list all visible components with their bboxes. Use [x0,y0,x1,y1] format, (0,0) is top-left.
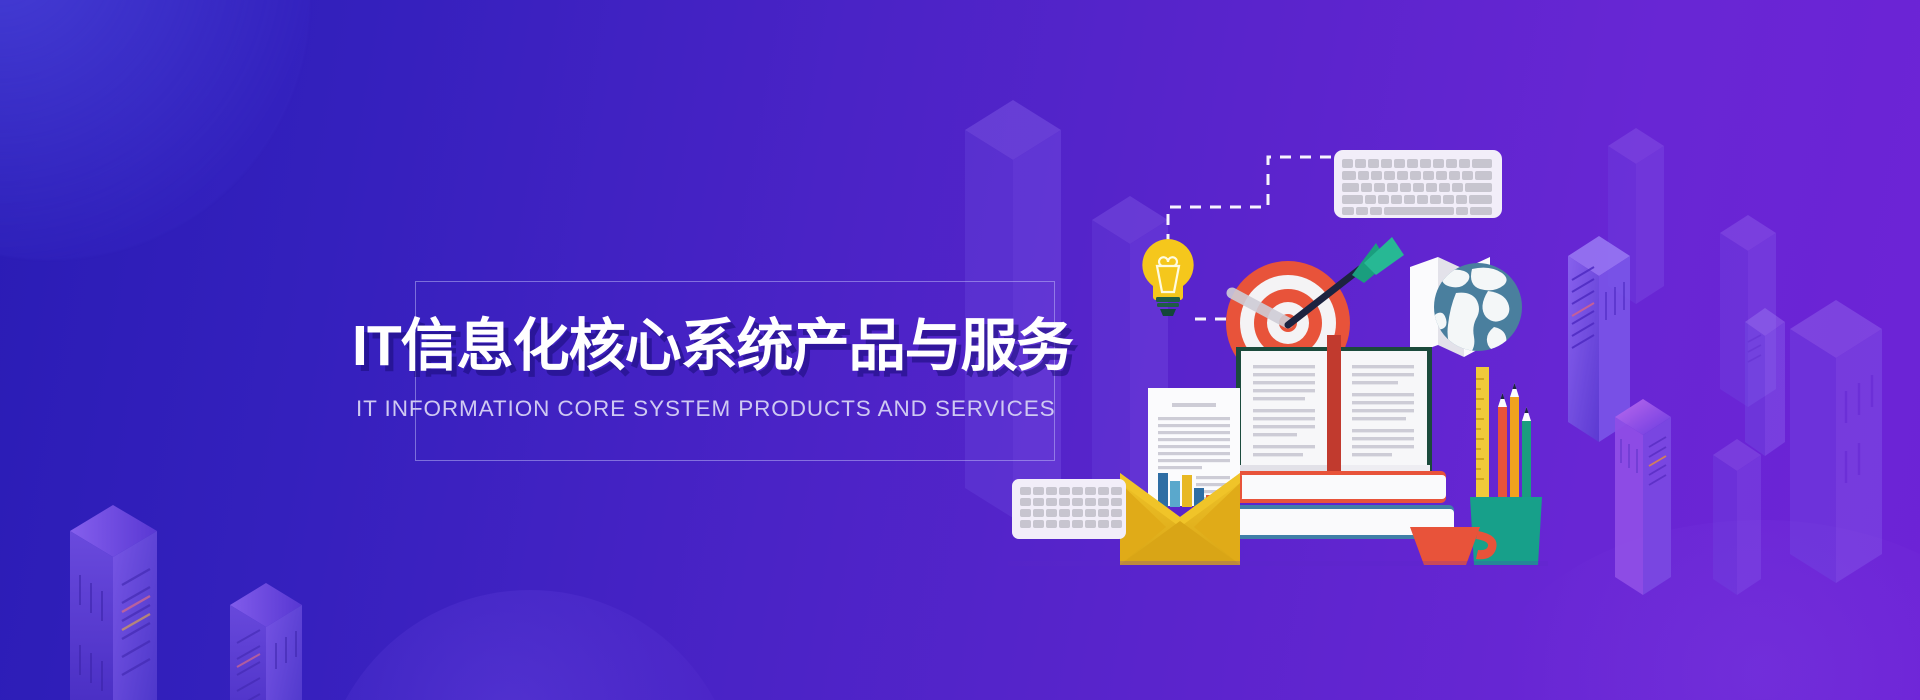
hero-illustration [1120,135,1550,565]
pencil-green [1522,407,1531,509]
pencil-orange [1510,383,1519,509]
isometric-tower [1713,437,1803,607]
page-title: IT信息化核心系统产品与服务 [352,316,1092,378]
isometric-tower [1790,295,1920,595]
small-keyboard-icon [1012,479,1126,539]
page-subtitle: IT INFORMATION CORE SYSTEM PRODUCTS AND … [356,396,1096,422]
background-circle-top-left [0,0,310,260]
isometric-tower [1615,395,1725,610]
pencil-red [1498,393,1507,509]
title-container: IT信息化核心系统产品与服务 [352,316,1092,378]
hero-banner: IT信息化核心系统产品与服务 IT INFORMATION CORE SYSTE… [0,0,1920,700]
lightbulb-icon [1142,239,1193,316]
isometric-tower [230,583,390,700]
keyboard-icon [1334,150,1502,218]
